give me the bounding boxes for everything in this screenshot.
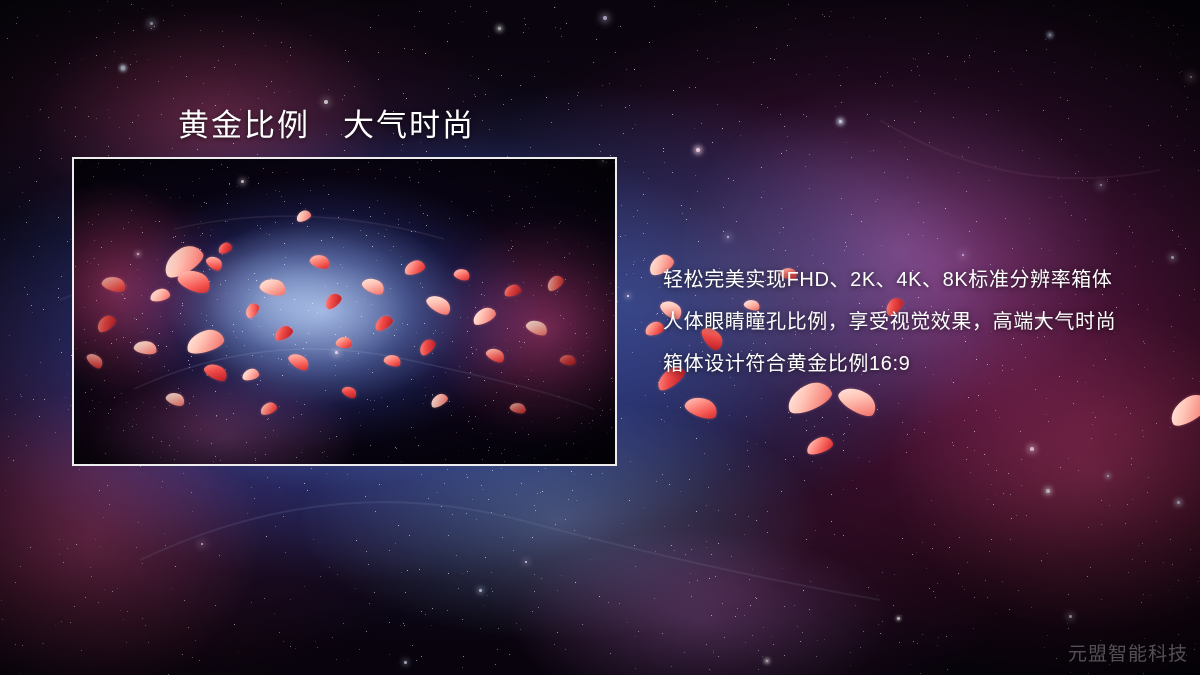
panel-vignette: [74, 159, 615, 464]
page-title: 黄金比例 大气时尚: [178, 100, 475, 145]
body-copy-block: 轻松完美实现FHD、2K、4K、8K标准分辨率箱体 人体眼睛瞳孔比例，享受视觉效…: [663, 259, 1163, 385]
presentation-slide: 黄金比例 大气时尚 轻松完美实现FHD、2K、4K、8K标准分辨率箱体 人体眼睛…: [0, 0, 1200, 675]
body-copy-line: 人体眼睛瞳孔比例，享受视觉效果，高端大气时尚: [663, 301, 1163, 343]
body-copy-line: 轻松完美实现FHD、2K、4K、8K标准分辨率箱体: [663, 259, 1163, 301]
body-copy-line: 箱体设计符合黄金比例16:9: [663, 343, 1163, 385]
display-preview-frame[interactable]: [72, 157, 617, 466]
watermark: 元盟智能科技: [1068, 639, 1188, 666]
